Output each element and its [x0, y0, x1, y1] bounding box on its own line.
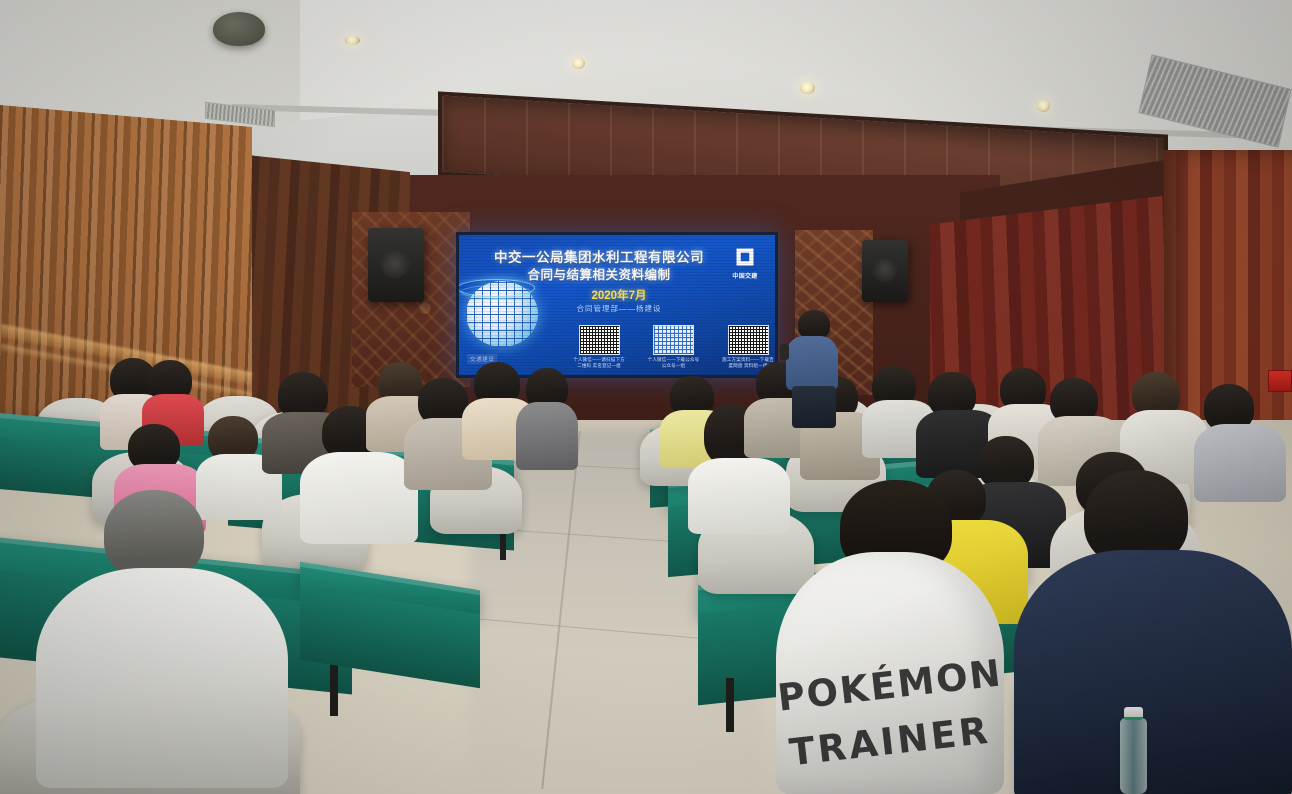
ceiling-speaker-icon [213, 12, 265, 46]
tshirt-text-line1: POKÉMON [774, 651, 1005, 720]
conference-room-photo: 中交一公局集团水利工程有限公司 合同与结算相关资料编制 2020年7月 合同管理… [0, 0, 1292, 794]
downlight-icon [800, 82, 815, 94]
table-leg [726, 678, 734, 732]
presenter-trousers [792, 386, 836, 428]
slide-date: 2020年7月 [519, 287, 719, 303]
qr-caption: 个人微信——请扫描下方二维码 实名登记一组 [571, 357, 627, 369]
downlight-icon [345, 36, 360, 45]
qr-code-icon [728, 325, 769, 355]
qr-code-icon [653, 325, 694, 355]
cccc-logo-text: 中国交建 [725, 271, 765, 280]
tshirt: POKÉMON TRAINER [776, 552, 1004, 794]
bottle-cap [1124, 707, 1143, 720]
led-presentation-screen: 中交一公局集团水利工程有限公司 合同与结算相关资料编制 2020年7月 合同管理… [456, 232, 778, 378]
qr-code-icon [579, 325, 620, 355]
wall-speaker-right-icon [862, 240, 908, 302]
qr-code-item: 个人微信——下载公众号 公众号一组 [646, 325, 702, 369]
microphone-icon [780, 344, 789, 360]
slide-company-title: 中交一公局集团水利工程有限公司 [479, 246, 719, 266]
qr-code-item: 个人微信——请扫描下方二维码 实名登记一组 [571, 325, 627, 369]
slide-surface: 中交一公局集团水利工程有限公司 合同与结算相关资料编制 2020年7月 合同管理… [459, 235, 775, 375]
cccc-diamond-icon [728, 240, 762, 274]
red-exit-sign [1268, 370, 1292, 392]
slide-topic-title: 合同与结算相关资料编制 [479, 264, 719, 283]
qr-code-row: 个人微信——请扫描下方二维码 实名登记一组 个人微信——下载公众号 公众号一组 … [571, 325, 775, 369]
slide-presenter-line: 合同管理部——杨建设 [519, 303, 719, 314]
qr-code-item: 施工方案资料——下载百度网盘 资料组一组 [720, 325, 775, 369]
attendee-pokemon-trainer: POKÉMON TRAINER [762, 480, 1000, 794]
tshirt-text-line2: TRAINER [774, 707, 1005, 776]
qr-caption: 个人微信——下载公众号 公众号一组 [646, 357, 702, 369]
cccc-logo: 中国交建 [725, 245, 765, 283]
wall-speaker-left-icon [368, 228, 424, 302]
downlight-icon [572, 58, 585, 69]
downlight-icon [1037, 100, 1050, 112]
table-leg [330, 660, 338, 716]
water-bottle [1120, 718, 1147, 794]
